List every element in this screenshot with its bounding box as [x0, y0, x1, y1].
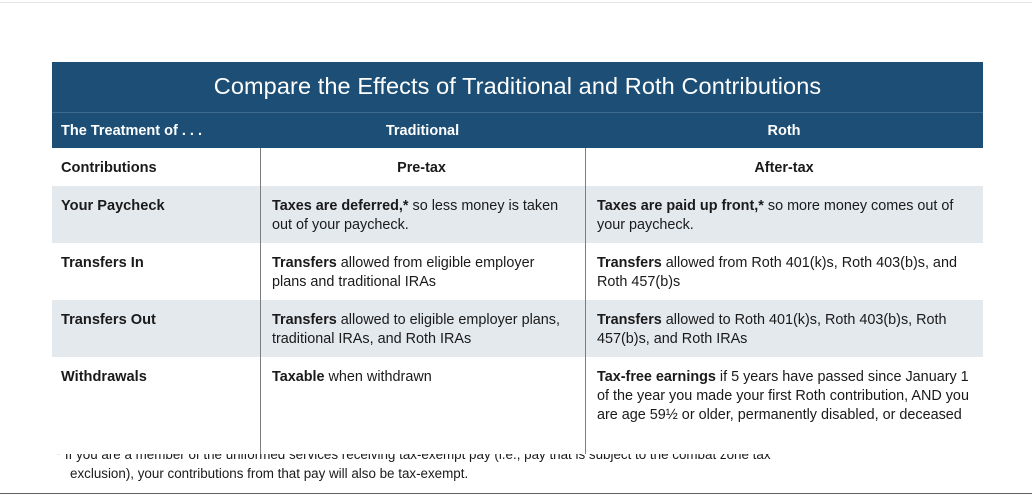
cell-traditional-emphasis: Pre-tax — [397, 160, 446, 176]
column-header-traditional: Traditional — [260, 123, 585, 139]
cell-roth-emphasis: Transfers — [597, 255, 662, 271]
cell-traditional-emphasis: Transfers — [272, 312, 337, 328]
row-label: Transfers Out — [52, 300, 260, 341]
row-label: Contributions — [52, 148, 260, 189]
comparison-table: Compare the Effects of Traditional and R… — [52, 62, 983, 454]
cell-roth: Taxes are paid up front,* so more money … — [585, 186, 983, 246]
table-row: Transfers In Transfers allowed from elig… — [52, 243, 983, 300]
cell-roth-emphasis: Transfers — [597, 312, 662, 328]
cell-roth-emphasis: Taxes are paid up front,* — [597, 198, 764, 214]
column-header-roth: Roth — [585, 123, 983, 139]
page-title: Compare the Effects of Traditional and R… — [214, 75, 821, 99]
cell-roth: Transfers allowed to Roth 401(k)s, Roth … — [585, 300, 983, 360]
cell-traditional-emphasis: Taxes are deferred,* — [272, 198, 409, 214]
table-body: Contributions Pre-tax After-tax Your Pay… — [52, 148, 983, 454]
table-column-header-row: The Treatment of . . . Traditional Roth — [52, 112, 983, 148]
column-header-treatment: The Treatment of . . . — [52, 123, 260, 139]
cell-roth-emphasis: After-tax — [754, 160, 813, 176]
cell-traditional-emphasis: Taxable — [272, 369, 325, 385]
row-label: Your Paycheck — [52, 186, 260, 227]
cell-traditional-emphasis: Transfers — [272, 255, 337, 271]
cell-traditional: Pre-tax — [260, 148, 585, 189]
table-row: Your Paycheck Taxes are deferred,* so le… — [52, 186, 983, 243]
page-top-rule — [0, 2, 1032, 3]
cell-traditional: Taxes are deferred,* so less money is ta… — [260, 186, 585, 246]
cell-traditional: Transfers allowed to eligible employer p… — [260, 300, 585, 360]
cell-roth: After-tax — [585, 148, 983, 189]
cell-traditional: Taxable when withdrawn — [260, 357, 585, 398]
table-row: Withdrawals Taxable when withdrawn Tax-f… — [52, 357, 983, 454]
footnote-line-2: exclusion), your contributions from that… — [56, 465, 976, 484]
cell-traditional: Transfers allowed from eligible employer… — [260, 243, 585, 303]
row-label: Transfers In — [52, 243, 260, 284]
table-title-band: Compare the Effects of Traditional and R… — [52, 62, 983, 112]
row-label: Withdrawals — [52, 357, 260, 398]
cell-traditional-text: when withdrawn — [325, 369, 432, 385]
cell-roth-emphasis: Tax-free earnings — [597, 369, 716, 385]
cell-roth: Transfers allowed from Roth 401(k)s, Rot… — [585, 243, 983, 303]
table-row: Contributions Pre-tax After-tax — [52, 148, 983, 186]
cell-roth: Tax-free earnings if 5 years have passed… — [585, 357, 983, 436]
table-row: Transfers Out Transfers allowed to eligi… — [52, 300, 983, 357]
page-bottom-rule — [0, 493, 1032, 494]
